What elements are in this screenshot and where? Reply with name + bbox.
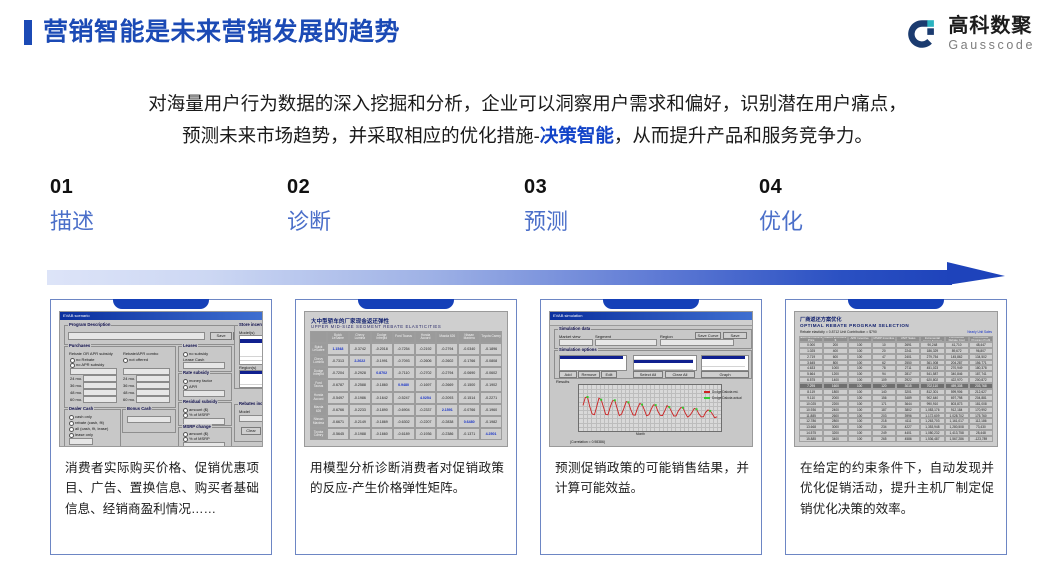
card-top-tab — [603, 299, 699, 309]
matrix-row-header: Buick LeSabre — [310, 343, 327, 355]
matrix-cell: -0.2669 — [436, 379, 458, 391]
step-01-number: 01 — [50, 176, 280, 198]
step-01: 01 描述 — [50, 176, 280, 234]
thumbnail-optimal-rebate-table: 厂商返还方案优化 OPTIMAL REBATE PROGRAM SELECTIO… — [794, 311, 998, 447]
matrix-cell: -0.1371 — [458, 428, 480, 440]
brand-logo: 高科数聚 Gausscode — [905, 16, 1035, 52]
matrix-cell: -0.2018 — [371, 343, 393, 355]
step-04-number: 04 — [759, 176, 989, 198]
opt-cell: -123,789 — [969, 436, 993, 442]
matrix-col-header: Toyota Camry — [480, 331, 502, 343]
matrix-col-header: Dodge Intrepid — [371, 331, 393, 343]
step-02-label: 诊断 — [287, 210, 517, 234]
matrix-cell: -0.1514 — [458, 392, 480, 404]
intro-highlight: 决策智能 — [540, 125, 614, 146]
matrix-cell: -0.6189 — [393, 428, 415, 440]
matrix-row-header: Chevy Lumina — [310, 355, 327, 367]
step-02-number: 02 — [287, 176, 517, 198]
matrix-cell: -0.7110 — [393, 367, 415, 379]
matrix-cell: -0.2149 — [349, 416, 371, 428]
matrix-cell: 4.0254 — [415, 392, 437, 404]
matrix-cell: -0.1766 — [458, 355, 480, 367]
matrix-cell: -0.2928 — [349, 367, 371, 379]
matrix-table: Buick LeSabreChevy LuminaDodge IntrepidF… — [310, 331, 502, 440]
thumbnail-elasticity-matrix: 大中型轿车的厂家现金返还弹性 UPPER MID-SIZE SEGMENT RE… — [304, 311, 508, 447]
matrix-cell: -0.5645 — [327, 428, 349, 440]
matrix-cell: -0.7093 — [393, 355, 415, 367]
matrix-cell: -0.2794 — [436, 367, 458, 379]
opt-subtitle: Rebate elasticity = 0.8712 Unit Contribu… — [800, 330, 877, 334]
matrix-cell: 0.8702 — [371, 367, 393, 379]
arrow-shaft — [47, 270, 952, 285]
matrix-cell: 2.2622 — [349, 355, 371, 367]
thumbnail-simulation-window: EVAB simulation FileSimulationTools Simu… — [549, 311, 753, 447]
matrix-cell: -0.0766 — [458, 404, 480, 416]
matrix-cell: -0.2192 — [415, 343, 437, 355]
matrix-cell: -0.6904 — [393, 404, 415, 416]
matrix-row-header: Nissan Maxima — [310, 416, 327, 428]
matrix-cell: -0.2838 — [436, 416, 458, 428]
opt-cell: 1,536,487 — [920, 436, 944, 442]
matrix-cell: -0.2093 — [436, 392, 458, 404]
matrix-cell: -0.7313 — [327, 355, 349, 367]
matrix-cell: -0.1660 — [371, 428, 393, 440]
step-03-number: 03 — [524, 176, 754, 198]
card-top-tab — [358, 299, 454, 309]
matrix-row-header: Honda Accord — [310, 392, 327, 404]
step-01-label: 描述 — [50, 210, 280, 234]
matrix-cell: 0.9480 — [393, 379, 415, 391]
opt-cell: 265 — [872, 436, 896, 442]
matrix-cell: -0.2588 — [349, 379, 371, 391]
title-text: 营销智能是未来营销发展的趋势 — [43, 20, 400, 45]
card-top-tab — [113, 299, 209, 309]
matrix-cell: -0.6671 — [327, 416, 349, 428]
matrix-cell: -0.2337 — [415, 404, 437, 416]
intro-line-2: 预测未来市场趋势，并采取相应的优化措施-决策智能，从而提升产品和服务竞争力。 — [50, 120, 1005, 152]
thumbnail-windows-dialog: EVAB scenario Program Description Save C… — [59, 311, 263, 447]
opt-corner-note: Nearly Unit Sales — [967, 330, 992, 334]
simulation-chart — [578, 384, 722, 432]
opt-data-table: REBATE/Customer PriceREBATE Amount $APR … — [799, 336, 993, 442]
matrix-cell: -0.1986 — [349, 392, 371, 404]
opt-cell: 4586 — [896, 436, 920, 442]
matrix-cell: -0.0602 — [480, 367, 502, 379]
matrix-cell: -0.1869 — [371, 416, 393, 428]
matrix-cell: -0.1988 — [349, 428, 371, 440]
step-04-label: 优化 — [759, 210, 989, 234]
matrix-cell: 1.1548 — [327, 343, 349, 355]
matrix-cell: -0.5497 — [327, 392, 349, 404]
matrix-cell: -0.1982 — [480, 416, 502, 428]
matrix-cell: -0.2233 — [349, 404, 371, 416]
matrix-cell: -0.2386 — [436, 428, 458, 440]
slide-root: 营销智能是未来营销发展的趋势 高科数聚 Gausscode 对海量用户行为数据的… — [0, 0, 1051, 586]
matrix-cell: -0.0808 — [480, 355, 502, 367]
matrix-cell: -0.1697 — [415, 379, 437, 391]
matrix-cell: -0.6766 — [327, 404, 349, 416]
card-describe[interactable]: EVAB scenario Program Description Save C… — [50, 299, 272, 555]
card-optimize[interactable]: 厂商返还方案优化 OPTIMAL REBATE PROGRAM SELECTIO… — [785, 299, 1007, 555]
matrix-row-header: Toyota Camry — [310, 428, 327, 440]
arrow-head-lower — [947, 276, 1005, 285]
intro-paragraph: 对海量用户行为数据的深入挖掘和分析，企业可以洞察用户需求和偏好，识别潜在用户痛点… — [50, 88, 1005, 153]
card-caption: 预测促销政策的可能销售结果，并计算可能效益。 — [555, 458, 749, 499]
matrix-cell: -0.2207 — [415, 416, 437, 428]
intro-line-2b: ，从而提升产品和服务竞争力。 — [614, 125, 873, 146]
step-02: 02 诊断 — [287, 176, 517, 234]
matrix-cell: -0.2271 — [480, 392, 502, 404]
matrix-cell: 0.6480 — [458, 416, 480, 428]
matrix-row-header: Mazda 626 — [310, 404, 327, 416]
matrix-col-header: Chevy Lumina — [349, 331, 371, 343]
intro-line-1: 对海量用户行为数据的深入挖掘和分析，企业可以洞察用户需求和偏好，识别潜在用户痛点… — [50, 88, 1005, 120]
matrix-cell: -0.6302 — [393, 416, 415, 428]
step-03: 03 预测 — [524, 176, 754, 234]
matrix-row-header: Dodge Intrepid — [310, 367, 327, 379]
logo-wordmark: 高科数聚 Gausscode — [948, 16, 1035, 52]
opt-cell: 3400 — [823, 436, 847, 442]
slide-header: 营销智能是未来营销发展的趋势 高科数聚 Gausscode — [0, 0, 1051, 72]
matrix-row-header: Ford Taurus — [310, 379, 327, 391]
opt-cell: 100 — [848, 436, 872, 442]
progress-arrow — [47, 265, 1005, 291]
card-caption: 用模型分析诊断消费者对促销政策的反应-产生价格弹性矩阵。 — [310, 458, 504, 499]
matrix-col-header: Buick LeSabre — [327, 331, 349, 343]
opt-cell: 1,567,286 — [945, 436, 969, 442]
matrix-cell: -0.2702 — [415, 367, 437, 379]
opt-title-en: OPTIMAL REBATE PROGRAM SELECTION — [800, 323, 909, 328]
chart-legend: Dodge Dakota est. Dodge Dakota actual — [704, 390, 748, 400]
logo-text-cn: 高科数聚 — [948, 16, 1035, 36]
matrix-cell: -0.2794 — [436, 343, 458, 355]
step-labels: 01 描述 02 诊断 03 预测 04 优化 — [50, 176, 1005, 246]
matrix-cell: 4.2501 — [480, 428, 502, 440]
opt-cell: 15.885 — [799, 436, 823, 442]
matrix-cell: -0.1936 — [415, 428, 437, 440]
matrix-col-header: Mazda 626 — [436, 331, 458, 343]
arrow-head-upper — [947, 262, 1005, 276]
card-row: EVAB scenario Program Description Save C… — [50, 299, 1010, 557]
matrix-cell: -0.7254 — [393, 343, 415, 355]
matrix-col-header: Honda Accord — [415, 331, 437, 343]
matrix-cell: -0.1991 — [371, 355, 393, 367]
card-caption: 消费者实际购买价格、促销优惠项目、广告、置换信息、购买者基础信息、经销商盈利情况… — [65, 458, 259, 519]
opt-title-cn: 厂商返还方案优化 — [800, 316, 842, 323]
logo-text-en: Gausscode — [948, 39, 1035, 52]
matrix-corner — [310, 331, 327, 343]
matrix-cell: -0.1902 — [480, 379, 502, 391]
step-03-label: 预测 — [524, 210, 754, 234]
matrix-cell: -0.1860 — [371, 379, 393, 391]
matrix-cell: -0.2606 — [415, 355, 437, 367]
matrix-col-header: Nissan Maxima — [458, 331, 480, 343]
logo-mark-icon — [905, 17, 939, 51]
matrix-cell: -0.1500 — [458, 379, 480, 391]
matrix-cell: -0.3742 — [349, 343, 371, 355]
card-diagnose[interactable]: 大中型轿车的厂家现金返还弹性 UPPER MID-SIZE SEGMENT RE… — [295, 299, 517, 555]
card-top-tab — [848, 299, 944, 309]
matrix-cell: -0.1896 — [480, 343, 502, 355]
matrix-title-en: UPPER MID-SIZE SEGMENT REBATE ELASTICITI… — [311, 324, 441, 329]
matrix-cell: -0.1642 — [371, 392, 393, 404]
matrix-col-header: Ford Taurus — [393, 331, 415, 343]
matrix-cell: -0.6787 — [327, 379, 349, 391]
matrix-cell: 2.1591 — [436, 404, 458, 416]
matrix-cell: -0.0690 — [458, 367, 480, 379]
title-accent-bar — [24, 20, 32, 45]
card-predict[interactable]: EVAB simulation FileSimulationTools Simu… — [540, 299, 762, 555]
matrix-cell: -0.0340 — [458, 343, 480, 355]
page-title: 营销智能是未来营销发展的趋势 — [24, 20, 400, 45]
card-caption: 在给定的约束条件下，自动发现并优化促销活动，提升主机厂制定促销优化决策的效率。 — [800, 458, 994, 519]
intro-line-2a: 预测未来市场趋势，并采取相应的优化措施- — [182, 125, 540, 146]
matrix-cell: -0.5247 — [393, 392, 415, 404]
matrix-cell: -0.1960 — [480, 404, 502, 416]
step-04: 04 优化 — [759, 176, 989, 234]
matrix-cell: -0.2602 — [436, 355, 458, 367]
matrix-cell: -0.7204 — [327, 367, 349, 379]
matrix-cell: -0.1890 — [371, 404, 393, 416]
